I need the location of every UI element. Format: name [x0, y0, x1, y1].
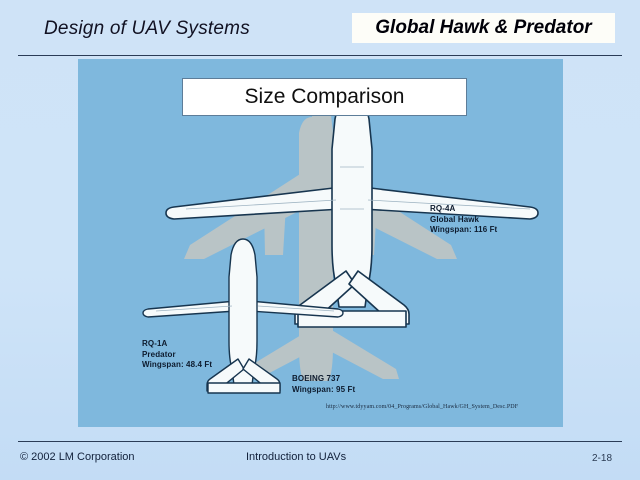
- footer-divider: [18, 441, 622, 442]
- source-url-text: http://www.tdyyam.com/04_Programs/Global…: [326, 404, 518, 410]
- footer-course-name: Introduction to UAVs: [246, 451, 346, 463]
- callout-predator: RQ-1A Predator Wingspan: 48.4 Ft: [142, 339, 212, 371]
- footer-page-number: 2-18: [592, 453, 612, 464]
- callout-boeing-737: BOEING 737 Wingspan: 95 Ft: [292, 374, 355, 395]
- size-comparison-title-box: Size Comparison: [182, 78, 467, 116]
- header-divider: [18, 55, 622, 56]
- topic-title-box: Global Hawk & Predator: [352, 13, 615, 43]
- callout-global-hawk-wingspan: Wingspan: 116 Ft: [430, 225, 497, 236]
- size-comparison-figure: Size Comparison RQ-4A Global Hawk Wingsp…: [78, 59, 563, 427]
- callout-global-hawk-designation: RQ-4A: [430, 204, 497, 215]
- slide-canvas: Design of UAV Systems Global Hawk & Pred…: [0, 0, 640, 480]
- callout-predator-wingspan: Wingspan: 48.4 Ft: [142, 360, 212, 371]
- callout-predator-designation: RQ-1A: [142, 339, 212, 350]
- topic-title-label: Global Hawk & Predator: [375, 17, 591, 39]
- course-title: Design of UAV Systems: [44, 18, 250, 40]
- callout-predator-name: Predator: [142, 350, 212, 361]
- callout-global-hawk-name: Global Hawk: [430, 215, 497, 226]
- callout-global-hawk: RQ-4A Global Hawk Wingspan: 116 Ft: [430, 204, 497, 236]
- size-comparison-title-label: Size Comparison: [245, 85, 405, 109]
- callout-boeing-737-wingspan: Wingspan: 95 Ft: [292, 385, 355, 396]
- footer-copyright: © 2002 LM Corporation: [20, 451, 135, 463]
- callout-boeing-737-designation: BOEING 737: [292, 374, 355, 385]
